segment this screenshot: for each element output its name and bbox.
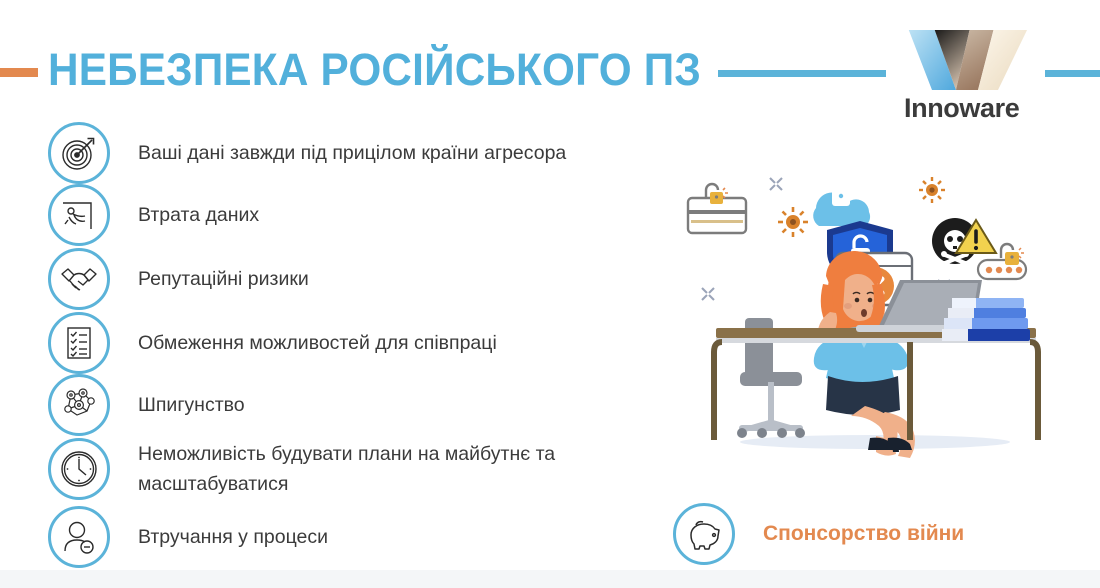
piggy-bank-icon [673, 503, 735, 565]
list-item-label: Втручання у процеси [138, 522, 328, 552]
list-item: Втрата даних [48, 184, 648, 246]
list-item-label: Ваші дані завжди під прицілом країни агр… [138, 138, 566, 168]
list-item-label: Обмеження можливостей для співпраці [138, 328, 497, 358]
page-title: НЕБЕЗПЕКА РОСІЙСЬКОГО ПЗ [48, 44, 701, 96]
list-item-label: Репутаційні ризики [138, 264, 309, 294]
bottom-band [0, 570, 1100, 588]
innoware-logo: Innoware [898, 26, 1038, 122]
cloud-lock-icon [813, 178, 870, 226]
accent-dash-right [1045, 70, 1100, 77]
list-item: Обмеження можливостей для співпраці [48, 312, 648, 374]
cyber-threat-illustration [660, 150, 1100, 480]
list-item: Втручання у процеси [48, 506, 648, 568]
accent-line-middle [718, 70, 886, 77]
sparkle-icon [702, 288, 714, 300]
list-item-label: Неможливість будувати плани на майбутнє … [138, 439, 593, 499]
data-loss-cliff-icon [48, 184, 110, 246]
virus-icon [778, 207, 808, 237]
list-item-label: Шпигунство [138, 390, 245, 420]
accent-dash-left [0, 68, 38, 77]
credit-card-unlocked-icon [688, 184, 746, 233]
checklist-icon [48, 312, 110, 374]
handshake-icon [48, 248, 110, 310]
list-item: Репутаційні ризики [48, 248, 648, 310]
list-item: Ваші дані завжди під прицілом країни агр… [48, 122, 648, 184]
sponsorship-callout: Спонсорство війни [673, 503, 964, 565]
sparkle-icon [770, 178, 782, 190]
user-minus-icon [48, 506, 110, 568]
list-item-label: Втрата даних [138, 200, 259, 230]
logo-wordmark: Innoware [898, 93, 1038, 124]
spy-network-icon [48, 374, 110, 436]
virus-icon [919, 177, 945, 203]
clock-icon [48, 438, 110, 500]
book-stack [942, 298, 1030, 341]
innoware-w-mark [898, 26, 1038, 92]
target-arrow-icon [48, 122, 110, 184]
list-item: Шпигунство [48, 374, 648, 436]
slide-canvas: НЕБЕЗПЕКА РОСІЙСЬКОГО ПЗ [0, 0, 1100, 588]
list-item: Неможливість будувати плани на майбутнє … [48, 438, 648, 500]
sponsorship-label: Спонсорство війни [763, 522, 964, 546]
